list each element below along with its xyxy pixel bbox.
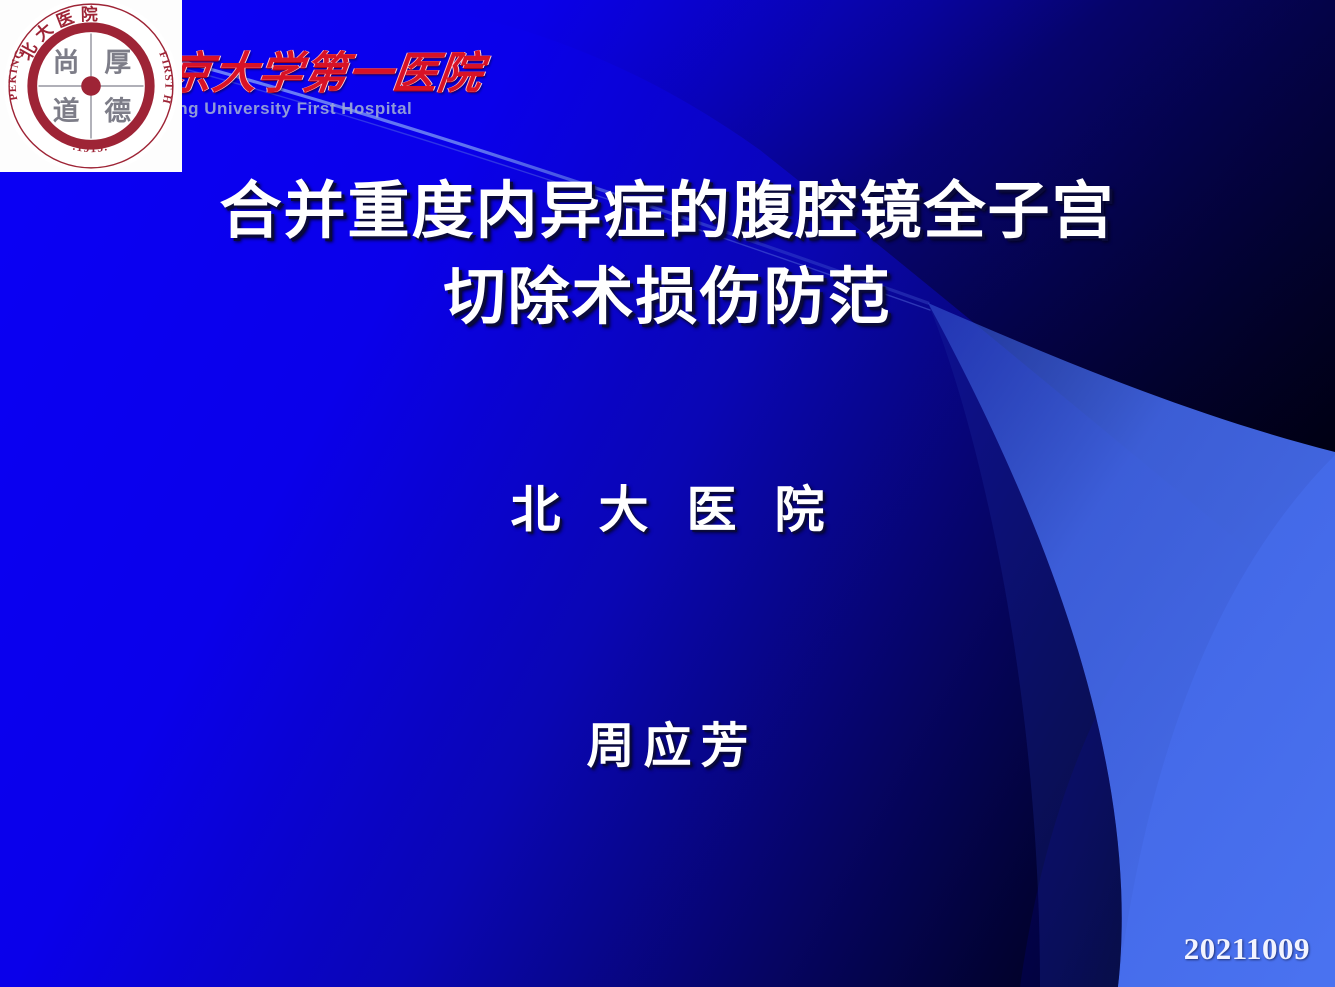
presenter-line: 周应芳 [0, 706, 1335, 776]
date-stamp: 20211009 [1184, 931, 1310, 967]
hospital-name-chinese: 京大学第一医院 [165, 52, 485, 96]
institution-name: 北大医院 [473, 481, 863, 539]
hospital-name-english: ing University First Hospital [172, 100, 483, 117]
hospital-banner: 京大学第一医院 ing University First Hospital [168, 52, 483, 117]
presenter-name: 周应芳 [577, 718, 757, 774]
svg-text:尚: 尚 [53, 48, 80, 79]
svg-text:道: 道 [53, 96, 80, 127]
svg-text:德: 德 [104, 96, 131, 127]
presentation-slide: 京大学第一医院 ing University First Hospital PE… [0, 0, 1335, 987]
institution-line: 北大医院 [0, 470, 1335, 542]
svg-text:厚: 厚 [104, 48, 131, 79]
hospital-seal-icon: PEKING UNIVERSITY FIRST HOSPITAL 北 大 医 院… [2, 0, 180, 172]
hospital-logo: PEKING UNIVERSITY FIRST HOSPITAL 北 大 医 院… [0, 0, 182, 172]
